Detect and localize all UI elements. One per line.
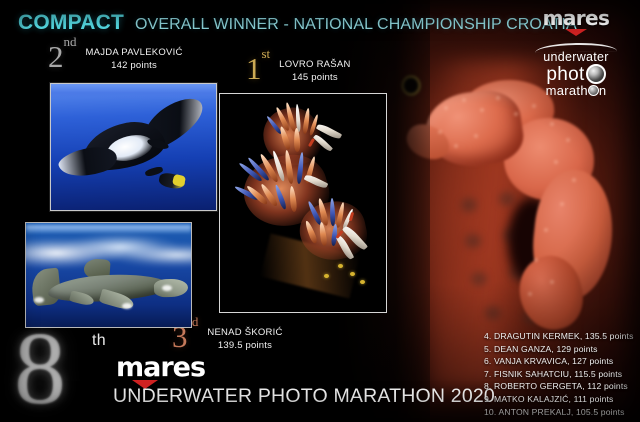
edition-suffix: th <box>92 332 106 350</box>
winner-name-1: LOVRO RAŠAN <box>279 59 350 72</box>
footer-mares-wordmark: mares <box>116 354 205 381</box>
edition-number: 8 <box>14 326 63 411</box>
ranking-item: 10. ANTON PREKALJ, 105.5 points <box>484 406 636 419</box>
ranking-item: 6. VANJA KRVAVICA, 127 points <box>484 355 636 368</box>
nudibranch-subject <box>220 94 386 312</box>
logo-photo-text: phot <box>546 65 584 84</box>
mares-triangle-icon <box>565 29 587 36</box>
rank-digit: 2 <box>48 39 64 74</box>
ranking-item: 4. DRAGUTIN KERMEK, 135.5 points <box>484 330 636 343</box>
ranking-item: 7. FISNIK SAHATCIU, 115.5 points <box>484 368 636 381</box>
mares-wordmark: mares <box>524 8 628 28</box>
podium-caption-2: 2nd MAJDA PAVLEKOVIĆ 142 points <box>48 44 183 73</box>
rank-number-2: 2nd <box>48 44 77 71</box>
brand-logo: mares underwater phot marath n <box>524 8 628 98</box>
logo-line-marathon: marath n <box>524 84 628 98</box>
category-title: COMPACT <box>18 11 124 35</box>
winner-points-2: 142 points <box>86 60 183 73</box>
ranking-item: 5. DEAN GANZA, 129 points <box>484 343 636 356</box>
photo-second-place <box>50 83 217 211</box>
podium-caption-1: 1st LOVRO RAŠAN 145 points <box>246 56 351 85</box>
logo-line-photo: phot <box>524 64 628 84</box>
ranking-item: 8. ROBERTO GERGETA, 112 points <box>484 380 636 393</box>
rank-number-1: 1st <box>246 56 270 83</box>
photo-first-place <box>219 93 387 313</box>
footer-brand-block: 8 th mares UNDERWATER PHOTO MARATHON 202… <box>8 330 408 422</box>
ranking-list: 4. DRAGUTIN KERMEK, 135.5 points 5. DEAN… <box>484 330 636 418</box>
logo-line-underwater: underwater <box>524 51 628 64</box>
poster-canvas: COMPACT OVERALL WINNER - NATIONAL CHAMPI… <box>0 0 640 422</box>
logo-marathon-text-end: n <box>599 84 607 98</box>
swoosh-icon <box>535 42 617 52</box>
header-subtitle: OVERALL WINNER - NATIONAL CHAMPIONSHIP C… <box>135 16 577 34</box>
header: COMPACT OVERALL WINNER - NATIONAL CHAMPI… <box>18 11 577 35</box>
winner-points-1: 145 points <box>279 72 350 85</box>
rank-suffix: nd <box>64 34 77 49</box>
rank-digit: 1 <box>246 51 262 86</box>
camera-lens-small-icon <box>588 85 599 96</box>
manta-ray-subject <box>51 84 216 210</box>
marathon-logo: underwater phot marath n <box>524 43 628 98</box>
winner-name-2: MAJDA PAVLEKOVIĆ <box>86 47 183 60</box>
camera-lens-icon <box>586 64 606 84</box>
event-title: UNDERWATER PHOTO MARATHON 2020 <box>113 385 495 408</box>
logo-marathon-text: marath <box>546 84 588 98</box>
rank-suffix: st <box>262 46 271 61</box>
ranking-item: 9. MATKO KALAJZIĆ, 111 points <box>484 393 636 406</box>
